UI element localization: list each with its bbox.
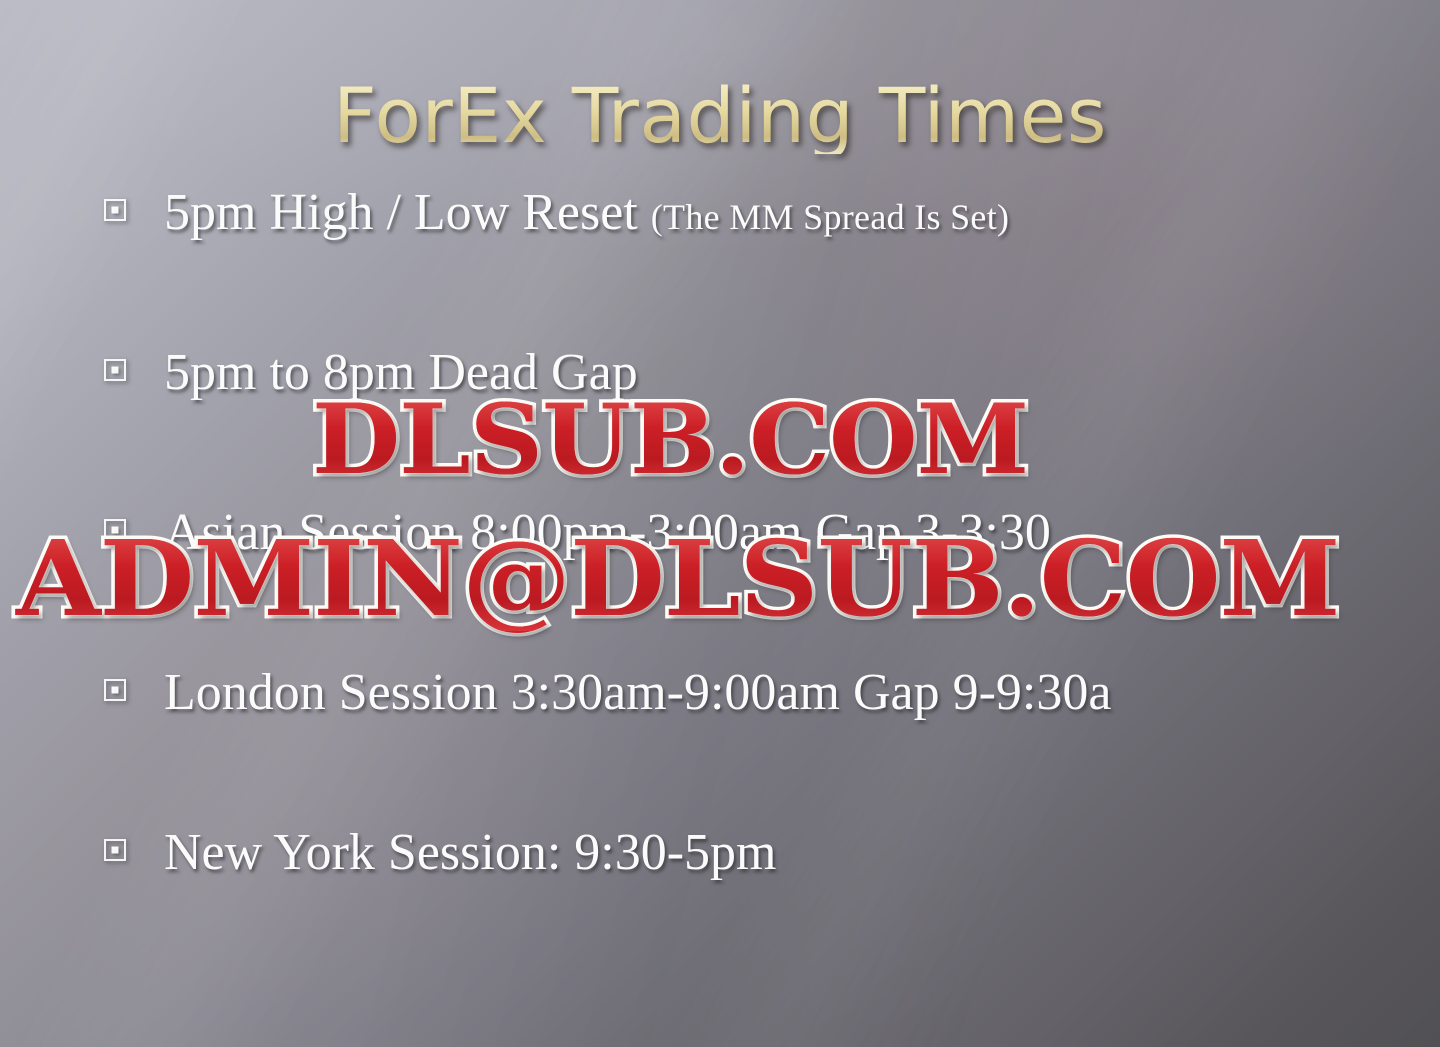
slide-title: ForEx Trading Times xyxy=(0,78,1440,154)
bullet-text: London Session 3:30am-9:00am Gap 9-9:30a xyxy=(164,666,1111,721)
forex-trading-times-slide: ForEx Trading Times 5pm High / Low Reset… xyxy=(0,0,1440,1047)
watermark-contact-email: ADMIN@DLSUB.COM ADMIN@DLSUB.COM xyxy=(16,527,1339,631)
square-bullet-icon xyxy=(104,199,126,221)
bullet-main-text: New York Session: 9:30-5pm xyxy=(164,824,777,881)
list-item: 5pm High / Low Reset (The MM Spread Is S… xyxy=(104,186,1394,346)
bullet-text: New York Session: 9:30-5pm xyxy=(164,826,777,881)
bullet-text: 5pm High / Low Reset (The MM Spread Is S… xyxy=(164,186,1009,241)
list-item: London Session 3:30am-9:00am Gap 9-9:30a xyxy=(104,666,1394,826)
list-item: New York Session: 9:30-5pm xyxy=(104,826,1394,986)
bullet-note-text: (The MM Spread Is Set) xyxy=(651,197,1010,237)
square-bullet-icon xyxy=(104,679,126,701)
watermark-site-url-fill: DLSUB.COM xyxy=(312,392,1028,488)
watermark-site-url: DLSUB.COM DLSUB.COM xyxy=(312,392,1028,488)
square-bullet-icon xyxy=(104,359,126,381)
square-bullet-icon xyxy=(104,839,126,861)
watermark-contact-email-fill: ADMIN@DLSUB.COM xyxy=(16,527,1339,631)
bullet-main-text: 5pm High / Low Reset xyxy=(164,184,651,241)
bullet-main-text: London Session 3:30am-9:00am Gap 9-9:30a xyxy=(164,664,1111,721)
